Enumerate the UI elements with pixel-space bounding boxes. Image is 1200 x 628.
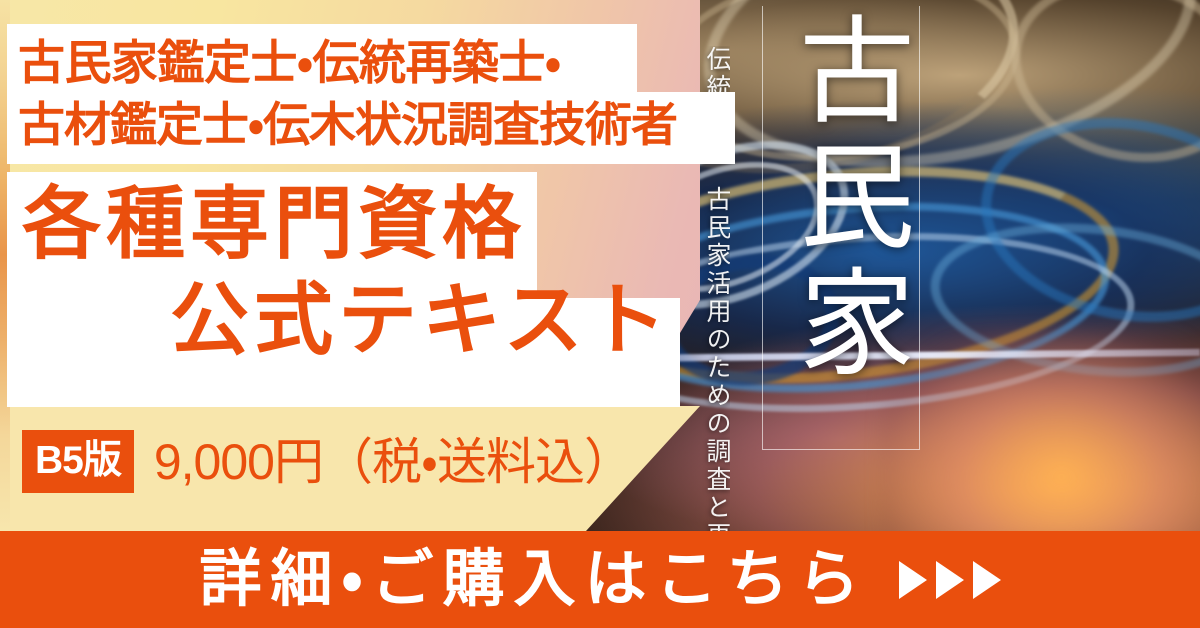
price-amount: 9,000円（税・送料込） <box>154 437 633 487</box>
credentials-line-2: 古材鑑定士・伝木状況調査技術者 <box>18 94 738 156</box>
triangle-right-icon <box>936 561 964 599</box>
format-badge: B5版 <box>22 430 134 493</box>
cta-label: 詳細・ご購入はこちら <box>199 549 868 611</box>
carving-stripe <box>992 0 1200 186</box>
credentials-list: 古民家鑑定士・伝統再築士・ 古材鑑定士・伝木状況調査技術者 <box>18 32 738 155</box>
credentials-line-1: 古民家鑑定士・伝統再築士・ <box>18 32 738 94</box>
book-cover-title: 古民家 <box>770 10 912 388</box>
cta-button[interactable]: 詳細・ご購入はこちら <box>0 531 1200 628</box>
triangle-right-icon <box>899 561 927 599</box>
headline-line-1: 各種専門資格 <box>0 176 690 272</box>
price-row: B5版 9,000円（税・送料込） <box>22 430 633 493</box>
cta-arrows <box>899 561 1001 599</box>
triangle-right-icon <box>973 561 1001 599</box>
page-title: 各種専門資格 公式テキスト <box>0 176 690 369</box>
cover-warm-glow <box>880 330 1200 540</box>
promo-banner: 古民家 伝統構法 古民家活用のための調査と再生の 古民家鑑定士・伝統再築士・ 古… <box>0 0 1200 628</box>
headline-line-2: 公式テキスト <box>0 272 690 368</box>
carving-stripe <box>965 95 1200 344</box>
carving-stripe <box>678 0 1200 209</box>
